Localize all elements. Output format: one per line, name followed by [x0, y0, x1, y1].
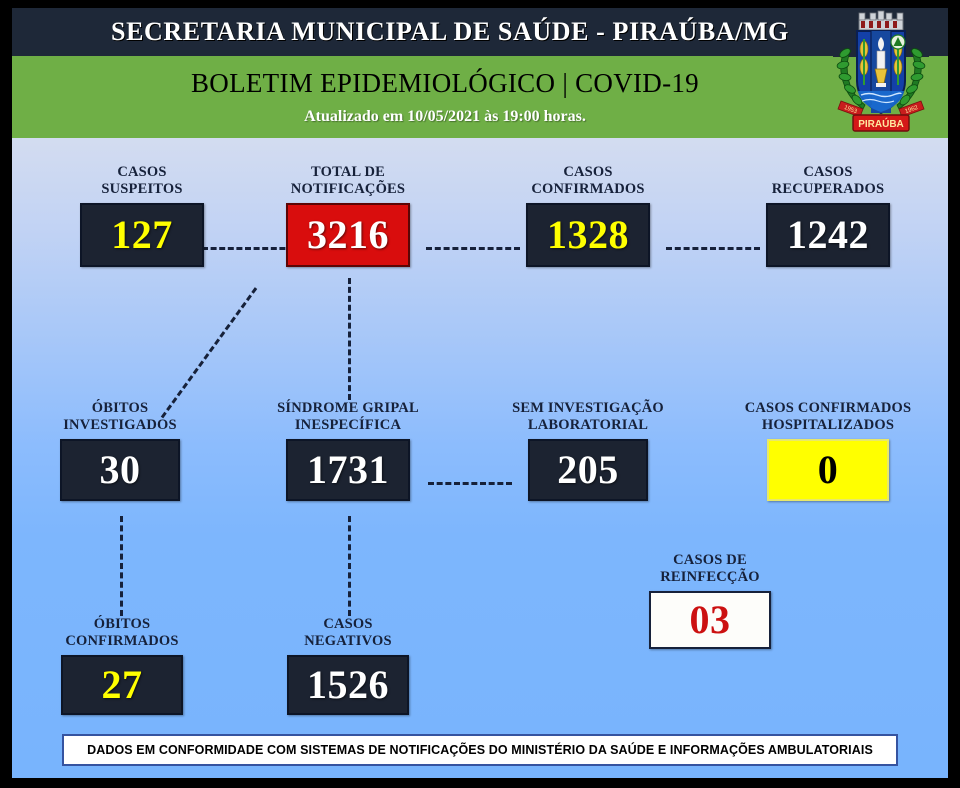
stat-label: ÓBITOS CONFIRMADOS: [65, 616, 178, 649]
stat-value: 1242: [787, 215, 869, 255]
stat-value: 3216: [307, 215, 389, 255]
stat-value: 1328: [547, 215, 629, 255]
page-title: SECRETARIA MUNICIPAL DE SAÚDE - PIRAÚBA/…: [111, 17, 849, 47]
bulletin-title: BOLETIM EPIDEMIOLÓGICO | COVID-19: [191, 68, 769, 99]
stat-casos-negativos: CASOS NEGATIVOS 1526: [270, 616, 426, 715]
footer-note: DADOS EM CONFORMIDADE COM SISTEMAS DE NO…: [62, 734, 898, 766]
stat-box: 205: [528, 439, 648, 501]
stat-obitos-confirmados: ÓBITOS CONFIRMADOS 27: [42, 616, 202, 715]
stat-value: 27: [102, 665, 143, 705]
stat-value: 1526: [307, 665, 389, 705]
stat-label: CASOS NEGATIVOS: [304, 616, 391, 649]
stat-box: 03: [649, 591, 771, 649]
stat-box: 1242: [766, 203, 890, 267]
stat-box: 1328: [526, 203, 650, 267]
stat-value: 205: [557, 450, 619, 490]
stat-box: 27: [61, 655, 183, 715]
stat-box: 30: [60, 439, 180, 501]
stat-casos-recuperados: CASOS RECUPERADOS 1242: [740, 164, 916, 267]
stat-value: 1731: [307, 450, 389, 490]
stats-panel: CASOS SUSPEITOS 127 TOTAL DE NOTIFICAÇÕE…: [12, 138, 948, 778]
stat-casos-de-reinfeccao: CASOS DE REINFECÇÃO 03: [626, 552, 794, 649]
connector-sindrome-to-negativos: [348, 516, 351, 616]
stat-label: SEM INVESTIGAÇÃO LABORATORIAL: [512, 400, 664, 433]
stat-box: 1526: [287, 655, 409, 715]
epidemiological-bulletin: SECRETARIA MUNICIPAL DE SAÚDE - PIRAÚBA/…: [0, 0, 960, 788]
coat-of-arms-icon: 1953 1962 PIRAÚBA: [833, 9, 929, 137]
connector-obitos-investigados-to-confirmados: [120, 516, 123, 616]
bulletin-title-band: BOLETIM EPIDEMIOLÓGICO | COVID-19 Atuali…: [12, 56, 948, 138]
stat-label: TOTAL DE NOTIFICAÇÕES: [291, 164, 405, 197]
stat-label: ÓBITOS INVESTIGADOS: [63, 400, 177, 433]
header-bar: SECRETARIA MUNICIPAL DE SAÚDE - PIRAÚBA/…: [12, 8, 948, 56]
stat-sindrome-gripal-inespecifica: SÍNDROME GRIPAL INESPECÍFICA 1731: [264, 400, 432, 501]
stat-label: SÍNDROME GRIPAL INESPECÍFICA: [277, 400, 419, 433]
stat-casos-suspeitos: CASOS SUSPEITOS 127: [62, 164, 222, 267]
stat-value: 0: [818, 450, 839, 490]
stat-value: 03: [690, 600, 731, 640]
stat-total-de-notificacoes: TOTAL DE NOTIFICAÇÕES 3216: [268, 164, 428, 267]
connector-notificacoes-to-obitos: [161, 287, 257, 418]
stat-label: CASOS DE REINFECÇÃO: [660, 552, 759, 585]
stat-box: 0: [767, 439, 889, 501]
stat-label: CASOS CONFIRMADOS HOSPITALIZADOS: [745, 400, 912, 433]
stat-label: CASOS CONFIRMADOS: [531, 164, 644, 197]
stat-box: 127: [80, 203, 204, 267]
stat-label: CASOS RECUPERADOS: [772, 164, 885, 197]
footer-note-text: DADOS EM CONFORMIDADE COM SISTEMAS DE NO…: [87, 743, 873, 757]
stat-casos-confirmados: CASOS CONFIRMADOS 1328: [500, 164, 676, 267]
connector-notificacoes-to-sindrome: [348, 278, 351, 400]
stat-value: 30: [100, 450, 141, 490]
stat-box: 3216: [286, 203, 410, 267]
stat-value: 127: [111, 215, 173, 255]
stat-box: 1731: [286, 439, 410, 501]
stat-label: CASOS SUSPEITOS: [101, 164, 182, 197]
crest-banner-label: PIRAÚBA: [858, 117, 904, 130]
last-updated-text: Atualizado em 10/05/2021 às 19:00 horas.: [304, 108, 656, 126]
stat-sem-investigacao-laboratorial: SEM INVESTIGAÇÃO LABORATORIAL 205: [498, 400, 678, 501]
stat-casos-confirmados-hospitalizados: CASOS CONFIRMADOS HOSPITALIZADOS 0: [730, 400, 926, 501]
stat-obitos-investigados: ÓBITOS INVESTIGADOS 30: [40, 400, 200, 501]
